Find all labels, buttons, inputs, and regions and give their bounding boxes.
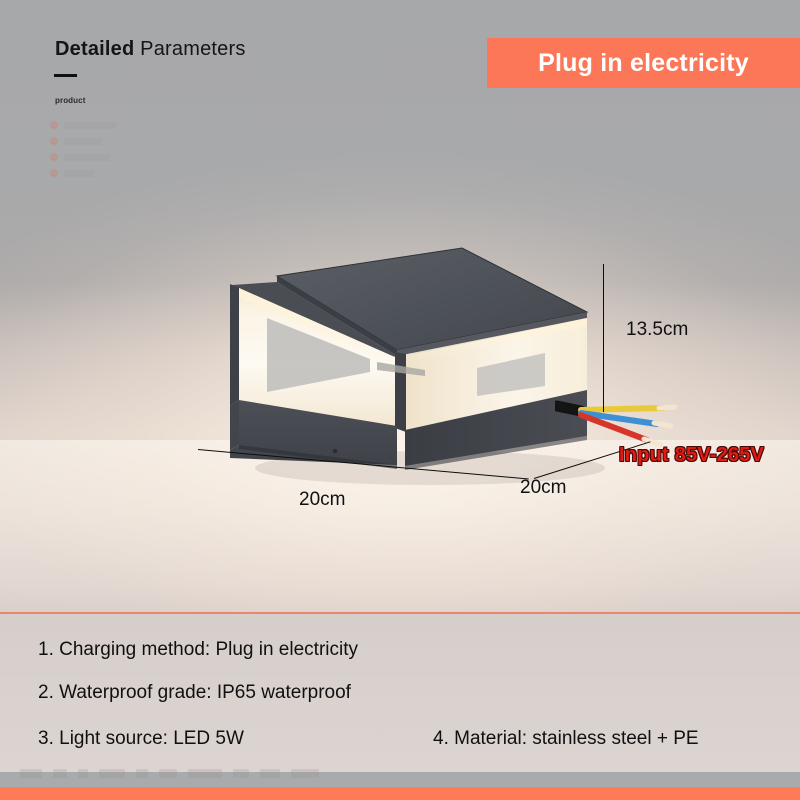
bullet-dot-icon (50, 137, 58, 145)
plug-in-electricity-banner: Plug in electricity (487, 38, 800, 88)
lamp-product-photo (225, 240, 605, 490)
bullet-dot-icon (50, 121, 58, 129)
page-subtitle: product (55, 96, 85, 105)
height-dimension-label: 13.5cm (626, 319, 688, 341)
ghost-text (233, 769, 249, 778)
ghost-text (291, 769, 319, 778)
title-underline-dash (54, 74, 77, 77)
ghost-text (20, 769, 42, 778)
front-width-dimension-label: 20cm (299, 489, 345, 511)
power-cable-wires (555, 380, 690, 450)
spec-item-material: 4. Material: stainless steel + PE (433, 728, 699, 750)
page-title: Detailed Parameters (55, 38, 246, 61)
input-voltage-label: Input 85V-265V (619, 444, 764, 467)
ghost-text (64, 122, 116, 129)
bullet-dot-icon (50, 153, 58, 161)
spec-item-light-source: 3. Light source: LED 5W (38, 728, 244, 750)
wires-graphic (555, 380, 690, 450)
ghost-text (188, 769, 222, 778)
ghost-text (260, 769, 280, 778)
cable-sheath (557, 406, 581, 411)
ghost-text (99, 769, 125, 778)
ghost-text (159, 769, 177, 778)
list-item (50, 166, 180, 182)
spec-item-waterproof-grade: 2. Waterproof grade: IP65 waterproof (38, 682, 351, 704)
wire-yellow (581, 408, 663, 410)
spec-divider (0, 612, 800, 614)
ghost-text (64, 154, 110, 161)
ghost-text (78, 769, 88, 778)
height-dimension-line (603, 264, 604, 412)
faint-footer-text (20, 766, 420, 780)
product-detail-image: Detailed Parameters product Plug in elec… (0, 0, 800, 800)
ghost-text (136, 769, 148, 778)
list-item (50, 150, 180, 166)
ghost-text (64, 138, 102, 145)
ghost-text (64, 170, 94, 177)
page-title-regular: Parameters (140, 38, 245, 60)
bullet-dot-icon (50, 169, 58, 177)
footer-accent-bar (0, 787, 800, 800)
list-item (50, 134, 180, 150)
faint-feature-list (50, 118, 180, 182)
banner-label: Plug in electricity (538, 49, 749, 78)
wire-yellow-tip (659, 407, 675, 408)
side-width-dimension-label: 20cm (520, 477, 566, 499)
ghost-text (53, 769, 67, 778)
list-item (50, 118, 180, 134)
spec-item-charging-method: 1. Charging method: Plug in electricity (38, 639, 358, 661)
lamp-graphic (225, 240, 605, 490)
page-title-bold: Detailed (55, 38, 134, 60)
wire-blue-tip (654, 423, 671, 426)
